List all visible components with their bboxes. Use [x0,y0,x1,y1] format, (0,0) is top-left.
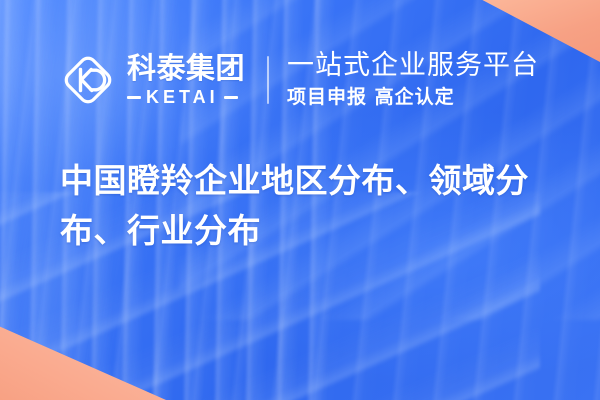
promo-banner: 科泰集团 KETAI 一站式企业服务平台 项目申报 高企认定 中国瞪羚企业地区分… [0,0,600,400]
brand-name-en-row: KETAI [127,88,245,106]
slogan-sub: 项目申报 高企认定 [287,88,539,108]
page-title: 中国瞪羚企业地区分布、领域分布、行业分布 [60,156,530,256]
slogan-main: 一站式企业服务平台 [287,52,539,80]
dash-left-icon [127,96,141,99]
brand-logo[interactable]: 科泰集团 KETAI [58,50,245,110]
brand-name-cn: 科泰集团 [127,54,245,83]
header-divider [267,56,269,104]
ketai-diamond-kd-logo-icon [58,50,118,110]
banner-header: 科泰集团 KETAI 一站式企业服务平台 项目申报 高企认定 [58,44,539,116]
brand-name-en: KETAI [146,88,219,106]
brand-wordmark: 科泰集团 KETAI [127,54,245,106]
slogan-block: 一站式企业服务平台 项目申报 高企认定 [287,52,539,108]
dash-right-icon [224,96,238,99]
